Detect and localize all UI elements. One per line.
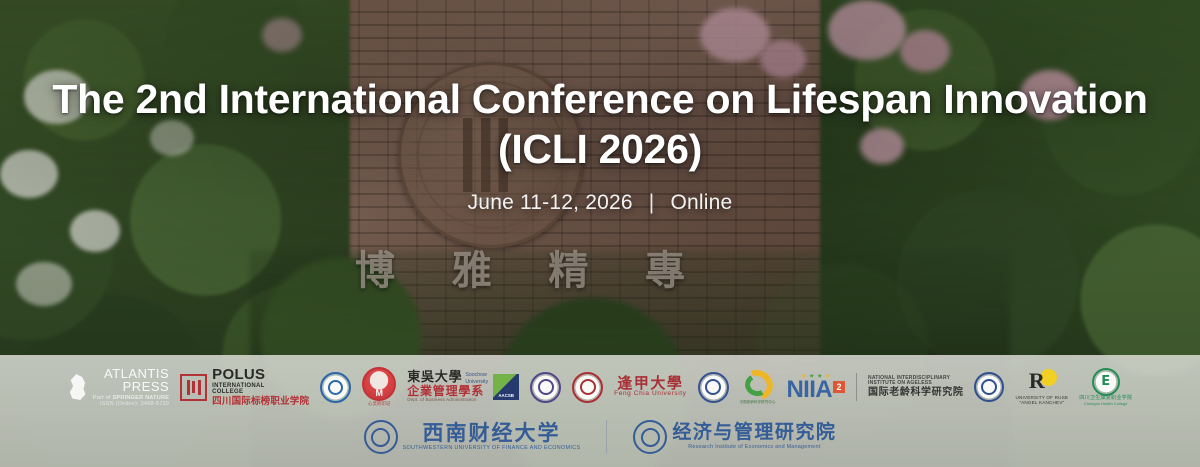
polus-line3: COLLEGE [212, 389, 309, 395]
logo-indonesia-university-seal[interactable] [698, 372, 729, 403]
aacsb-icon: AACSB [493, 374, 519, 400]
conference-meta: June 11-12, 2026 | Online [40, 191, 1160, 215]
polus-mark-icon [180, 374, 207, 401]
feng-chia-chinese-name: 逢甲大學 [617, 376, 683, 392]
swirl-caption: 中国老龄科学研究中心 [740, 401, 776, 405]
atlantis-press-text: ATLANTIS PRESS Part of SPRINGER NATURE I… [93, 367, 169, 408]
logo-atlantis-press[interactable]: ATLANTIS PRESS Part of SPRINGER NATURE I… [68, 367, 169, 408]
atlantis-name: ATLANTIS [93, 367, 169, 381]
mascot-icon [362, 367, 396, 401]
logo-blue-seal-university[interactable] [320, 372, 351, 403]
sponsor-row-1: ATLANTIS PRESS Part of SPRINGER NATURE I… [0, 363, 1200, 411]
swirl-icon [741, 370, 773, 400]
soochow-department-en: Dept. of Business Administration [407, 398, 488, 403]
conference-title: The 2nd International Conference on Life… [40, 74, 1160, 175]
niia-superscript: 2 [833, 381, 845, 393]
meta-separator: | [649, 191, 655, 215]
conference-banner: 1993 博 雅 精 專 The 2nd International Confe… [0, 0, 1200, 467]
logo-green-swirl-institute[interactable]: 中国老龄科学研究中心 [740, 370, 776, 405]
logo-southwestern-university-finance-economics[interactable]: 西南财经大学 SOUTHWESTERN UNIVERSITY OF FINANC… [364, 420, 581, 454]
purple-seal-icon [530, 372, 561, 403]
green-college-english-name: Chengdu Health College [1084, 402, 1128, 406]
logo-research-institute-economics-management[interactable]: 经济与管理研究院 Research Institute of Economics… [633, 420, 836, 454]
blue-seal-icon [320, 372, 351, 403]
sponsor-row-2: 西南财经大学 SOUTHWESTERN UNIVERSITY OF FINANC… [0, 415, 1200, 459]
logo-red-seal-university[interactable] [572, 372, 603, 403]
logo-niia[interactable]: NIIA 2 NATIONAL INTERDISCIPLINARY INSTIT… [786, 373, 963, 401]
conference-mode: Online [670, 191, 732, 214]
polus-text: POLUS INTERNATIONAL COLLEGE 四川国际标榜职业学院 [212, 367, 309, 406]
row2-divider [606, 420, 607, 454]
soochow-department-cn: 企業管理學系 [407, 385, 488, 398]
niia-divider [856, 373, 857, 401]
logo-feng-chia-university[interactable]: 逢甲大學 Feng Chia University [614, 376, 686, 399]
swufe-seal-icon [364, 420, 398, 454]
green-seal-icon: E [1092, 368, 1120, 396]
ruse-letter: R [1029, 370, 1045, 392]
conference-date: June 11-12, 2026 [468, 191, 633, 214]
logo-university-of-ruse[interactable]: R UNIVERSITY OF RUSE "ANGEL KANCHEV" [1015, 369, 1068, 405]
polus-name: POLUS [212, 367, 309, 383]
niia-acronym: NIIA [786, 379, 832, 401]
riem-english-name: Research Institute of Economics and Mana… [688, 445, 820, 451]
feng-chia-text: 逢甲大學 Feng Chia University [614, 376, 686, 399]
polus-chinese-name: 四川国际标榜职业学院 [212, 397, 309, 407]
blue-chinese-seal-icon [974, 372, 1004, 402]
logo-polus-international-college[interactable]: POLUS INTERNATIONAL COLLEGE 四川国际标榜职业学院 [180, 367, 309, 406]
niia-en-line2: INSTITUTE ON AGELESS [868, 381, 963, 386]
riem-chinese-name: 经济与管理研究院 [672, 423, 836, 443]
logo-purple-seal-university[interactable] [530, 372, 561, 403]
hero-content: The 2nd International Conference on Life… [0, 74, 1200, 215]
soochow-text: 東吳大學 Soochow University 企業管理學系 Dept. of … [407, 371, 488, 402]
logo-green-health-college[interactable]: E 四川卫生康复职业学院 Chengdu Health College [1079, 368, 1132, 405]
logo-soochow-university[interactable]: 東吳大學 Soochow University 企業管理學系 Dept. of … [407, 371, 519, 402]
swufe-chinese-name: 西南财经大学 [422, 422, 560, 444]
logo-mascot-red-emblem[interactable]: 心灵的印记 [362, 367, 396, 407]
niia-mark: NIIA 2 [786, 373, 845, 401]
ruse-mark-icon: R [1025, 369, 1059, 395]
niia-chinese-name: 国际老龄科学研究院 [868, 388, 963, 399]
swufe-english-name: SOUTHWESTERN UNIVERSITY OF FINANCE AND E… [403, 446, 581, 452]
atlantis-figure-icon [68, 374, 88, 400]
riem-text: 经济与管理研究院 Research Institute of Economics… [672, 423, 836, 451]
riem-seal-icon [633, 420, 667, 454]
indonesia-seal-icon [698, 372, 729, 403]
swufe-text: 西南财经大学 SOUTHWESTERN UNIVERSITY OF FINANC… [403, 422, 581, 452]
niia-text: NATIONAL INTERDISCIPLINARY INSTITUTE ON … [868, 376, 963, 399]
red-seal-icon [572, 372, 603, 403]
logo-blue-chinese-university-seal[interactable] [974, 372, 1004, 402]
ruse-subtitle: "ANGEL KANCHEV" [1019, 400, 1064, 405]
atlantis-name-2: PRESS [93, 380, 169, 394]
feng-chia-english-name: Feng Chia University [614, 391, 686, 398]
mascot-caption: 心灵的印记 [368, 402, 390, 407]
atlantis-issn: ISSN (Online): 2468-5739 [93, 402, 169, 408]
sponsor-strip: ATLANTIS PRESS Part of SPRINGER NATURE I… [0, 355, 1200, 467]
